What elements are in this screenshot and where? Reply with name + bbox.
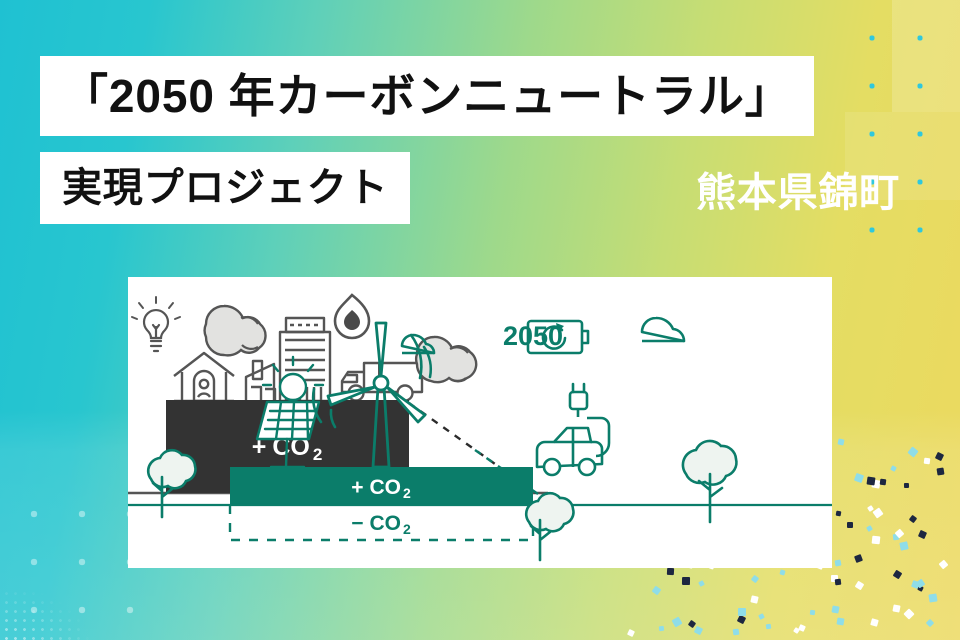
confetti-dot — [879, 479, 886, 486]
confetti-dot — [627, 629, 635, 637]
confetti-dot — [652, 586, 662, 596]
title-line1-box: 「2050 年カーボンニュートラル」 — [40, 56, 814, 136]
confetti-dot — [750, 595, 758, 603]
factory-icon — [246, 361, 275, 401]
carbon-neutral-diagram: +CO2 2050 — [128, 277, 832, 568]
confetti-dot — [924, 458, 931, 465]
confetti-dot — [810, 610, 816, 616]
confetti-dot — [698, 580, 705, 587]
confetti-dot — [759, 613, 766, 620]
decor-dot-grid-top-right — [844, 10, 960, 260]
confetti-dot — [938, 559, 948, 569]
confetti-dot — [837, 438, 844, 445]
confetti-dot — [847, 522, 853, 528]
confetti-dot — [688, 620, 696, 628]
confetti-dot — [854, 554, 863, 563]
confetti-dot — [872, 507, 883, 518]
confetti-dot — [835, 511, 841, 517]
confetti-dot — [831, 605, 839, 613]
confetti-dot — [837, 617, 845, 625]
page-title-line1: 「2050 年カーボンニュートラル」 — [62, 73, 792, 119]
confetti-dot — [936, 468, 944, 476]
confetti-dot — [659, 626, 665, 632]
confetti-dot — [890, 465, 897, 472]
confetti-dot — [904, 608, 915, 619]
confetti-dot — [893, 604, 901, 612]
confetti-dot — [904, 483, 909, 488]
poster-canvas: 「2050 年カーボンニュートラル」 実現プロジェクト 熊本県錦町 — [0, 0, 960, 640]
confetti-dot — [926, 618, 934, 626]
confetti-dot — [918, 530, 927, 539]
confetti-dot — [907, 446, 918, 457]
confetti-dot — [834, 579, 841, 586]
lightbulb-icon — [132, 297, 180, 351]
title-line2-box: 実現プロジェクト — [40, 152, 410, 224]
confetti-dot — [855, 580, 865, 590]
confetti-dot — [871, 536, 880, 545]
cloud-icon — [642, 318, 684, 341]
region-label: 熊本県錦町 — [696, 160, 900, 218]
illustration-panel: +CO2 2050 — [128, 277, 832, 568]
confetti-dot — [798, 624, 806, 632]
confetti-dot — [672, 617, 683, 628]
confetti-dot — [751, 575, 759, 583]
confetti-dot — [732, 628, 739, 635]
confetti-dot — [899, 541, 908, 550]
confetti-dot — [694, 626, 703, 635]
decor-fine-dot-grid-bottom-left — [0, 560, 120, 640]
confetti-dot — [738, 608, 746, 616]
tree-icon — [526, 493, 573, 560]
confetti-dot — [871, 618, 880, 627]
smoke-cloud-icon — [205, 306, 266, 355]
house-icon — [174, 353, 234, 401]
confetti-dot — [854, 473, 864, 483]
confetti-dot — [834, 560, 841, 567]
confetti-dot — [908, 515, 916, 523]
page-title-line2: 実現プロジェクト — [62, 168, 388, 208]
confetti-dot — [766, 624, 772, 630]
confetti-dot — [929, 594, 938, 603]
confetti-dot — [866, 477, 875, 486]
confetti-dot — [667, 567, 674, 574]
tree-icon — [683, 441, 737, 522]
flame-icon — [335, 295, 369, 338]
confetti-dot — [935, 452, 944, 461]
confetti-dot — [780, 569, 786, 575]
electric-car-icon — [537, 384, 609, 475]
confetti-dot — [681, 577, 689, 585]
confetti-dot — [893, 569, 903, 579]
confetti-dot — [866, 525, 873, 532]
absorption-label: −CO2 — [351, 512, 411, 537]
